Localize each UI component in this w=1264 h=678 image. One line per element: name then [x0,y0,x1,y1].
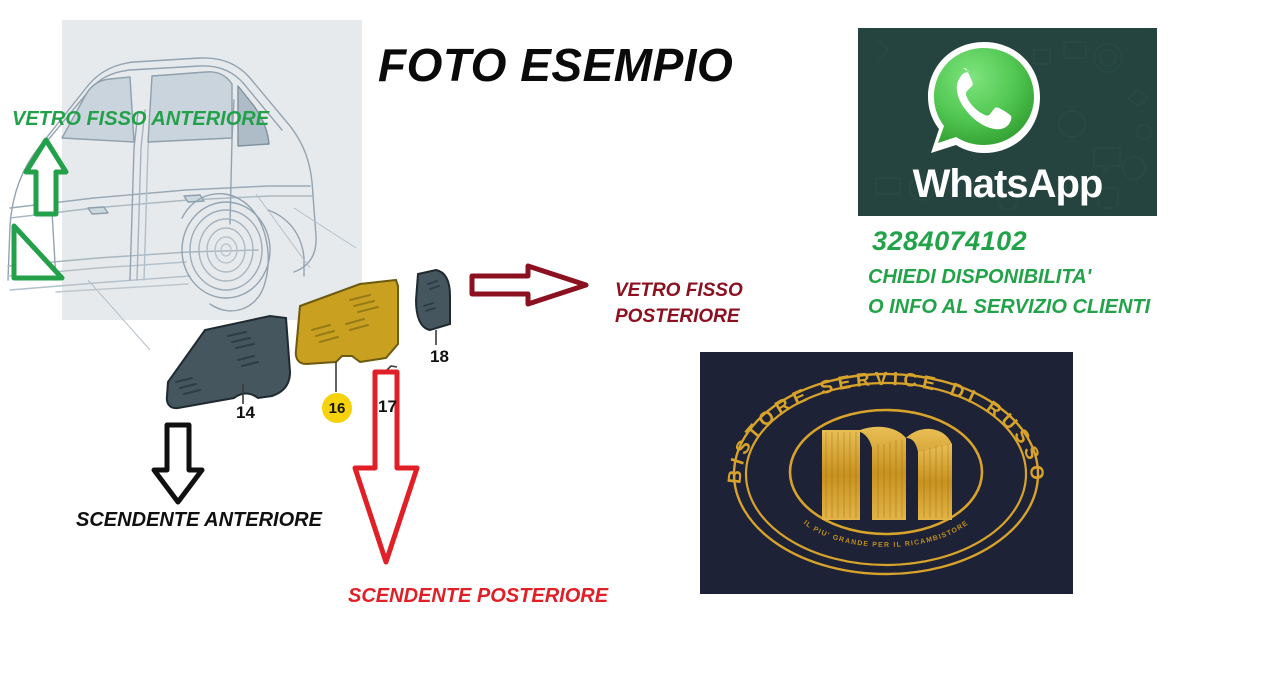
phone-number: 3284074102 [872,226,1027,257]
contact-line-1: CHIEDI DISPONIBILITA' [868,266,1091,289]
company-logo: MRICAMBISTORE SERVICE DI RUSSO MARCO [700,352,1073,594]
label-scendente-anteriore: SCENDENTE ANTERIORE [76,509,322,532]
company-logo-graphic: MRICAMBISTORE SERVICE DI RUSSO MARCO [700,352,1073,594]
whatsapp-banner: WhatsApp [858,28,1157,216]
contact-line-2: O INFO AL SERVIZIO CLIENTI [868,296,1150,319]
poster-canvas: FOTO ESEMPIO VETRO FISSO ANTERIORE VETRO… [0,0,1264,678]
part-number-16-badge: 16 [322,393,352,423]
label-vfp-line2: POSTERIORE [615,304,835,330]
part-number-18: 18 [430,347,449,367]
part-number-14: 14 [236,403,255,423]
whatsapp-wordmark: WhatsApp [858,162,1157,207]
triangle-green-icon [14,226,62,278]
right-arrow-darkred-icon [472,266,586,304]
down-arrow-black-icon [154,425,202,502]
part-number-17: 17 [378,397,397,417]
up-arrow-green-icon [26,140,66,214]
page-title: FOTO ESEMPIO [378,38,733,92]
whatsapp-logo-icon [920,36,1048,164]
label-vetro-fisso-anteriore: VETRO FISSO ANTERIORE [12,108,269,131]
label-vfp-line1: VETRO FISSO [615,278,835,304]
label-vetro-fisso-posteriore: VETRO FISSO POSTERIORE [615,278,835,330]
label-scendente-posteriore: SCENDENTE POSTERIORE [348,585,608,608]
